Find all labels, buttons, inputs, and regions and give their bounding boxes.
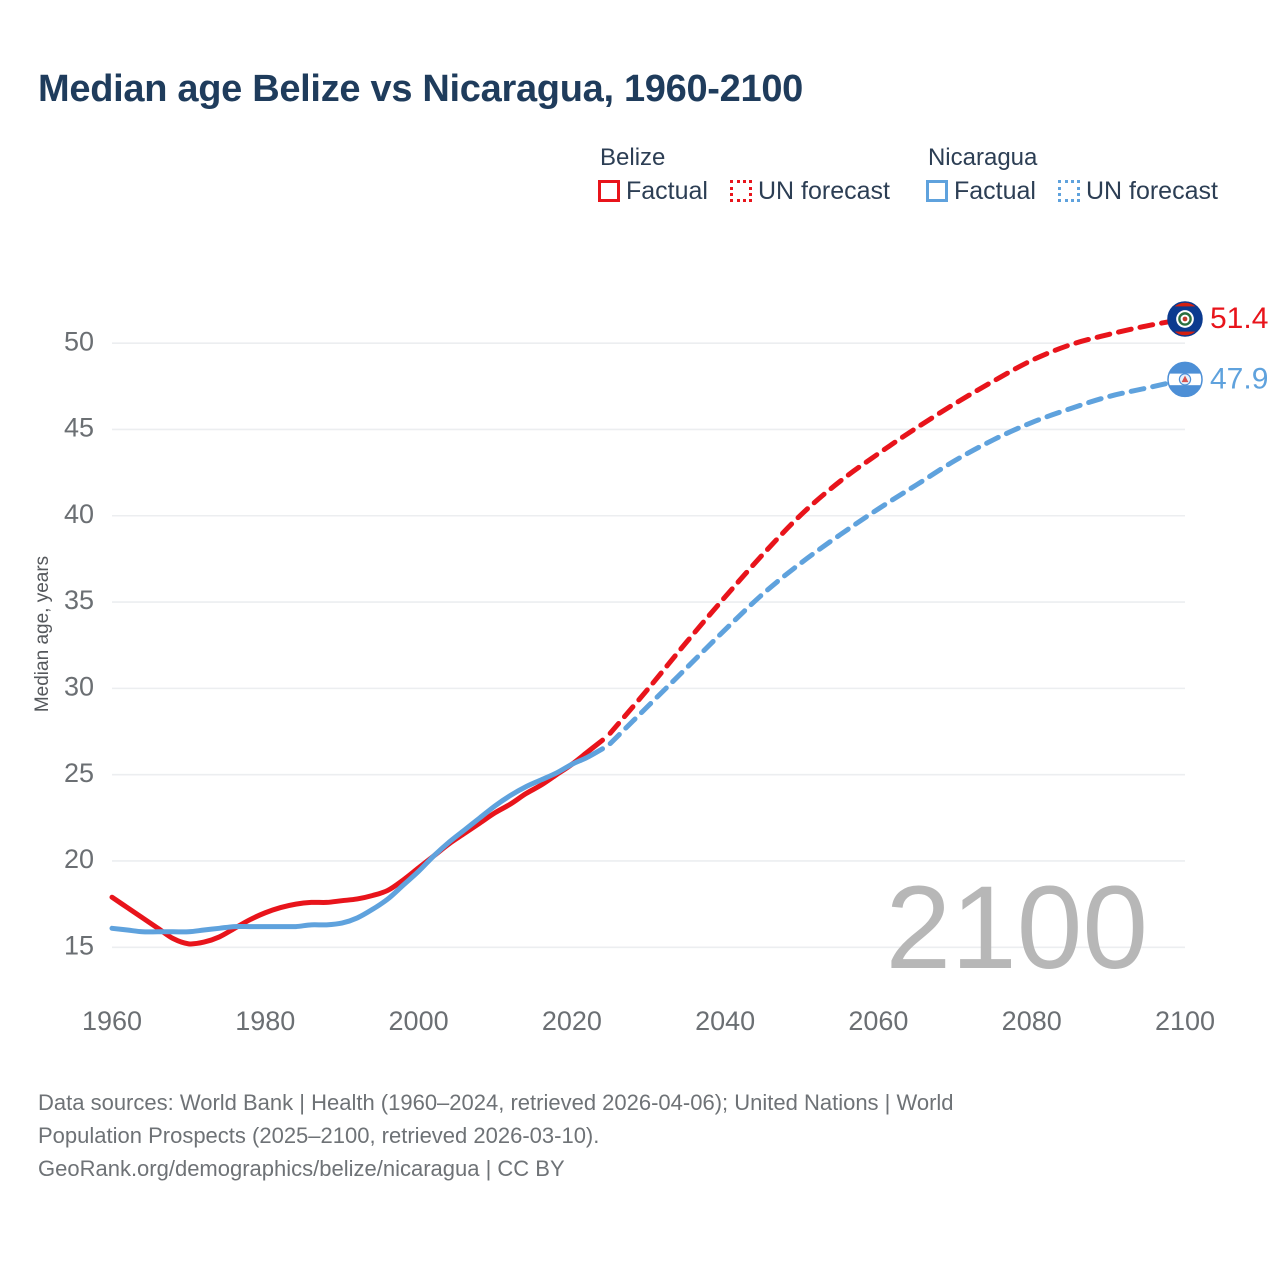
y-axis-tick-label: 45 [64,413,94,443]
x-axis-tick-label: 2020 [542,1006,602,1036]
y-axis-tick-label: 40 [64,499,94,529]
x-axis-tick-label: 2080 [1002,1006,1062,1036]
year-watermark: 2100 [885,862,1148,994]
nicaragua-flag-icon [1168,362,1202,396]
y-axis-tick-label: 25 [64,758,94,788]
y-axis-tick-label: 30 [64,671,94,701]
x-axis-tick-label: 1960 [82,1006,142,1036]
endpoint-value-nicaragua: 47.9 [1210,362,1268,395]
x-axis-tick-label: 2060 [848,1006,908,1036]
chart-plot-area: 1520253035404550196019802000202020402060… [0,0,1280,1060]
x-axis-tick-label: 1980 [235,1006,295,1036]
y-axis-tick-label: 15 [64,930,94,960]
x-axis-tick-label: 2040 [695,1006,755,1036]
x-axis-tick-label: 2000 [389,1006,449,1036]
endpoint-value-belize: 51.4 [1210,302,1268,335]
series-line-belize-forecast [610,319,1185,733]
footer-line[interactable]: GeoRank.org/demographics/belize/nicaragu… [38,1152,1168,1185]
belize-flag-icon [1168,302,1202,336]
footer-line: Data sources: World Bank | Health (1960–… [38,1086,1168,1119]
y-axis-tick-label: 50 [64,326,94,356]
x-axis-tick-label: 2100 [1155,1006,1215,1036]
chart-footer: Data sources: World Bank | Health (1960–… [38,1086,1168,1185]
y-axis-tick-label: 20 [64,844,94,874]
series-line-nicaragua-factual [112,749,603,932]
chart-container: Median age Belize vs Nicaragua, 1960-210… [0,0,1280,1280]
y-axis-title: Median age, years [32,556,53,712]
series-line-belize-factual [112,740,603,944]
footer-line: Population Prospects (2025–2100, retriev… [38,1119,1168,1152]
y-axis-tick-label: 35 [64,585,94,615]
